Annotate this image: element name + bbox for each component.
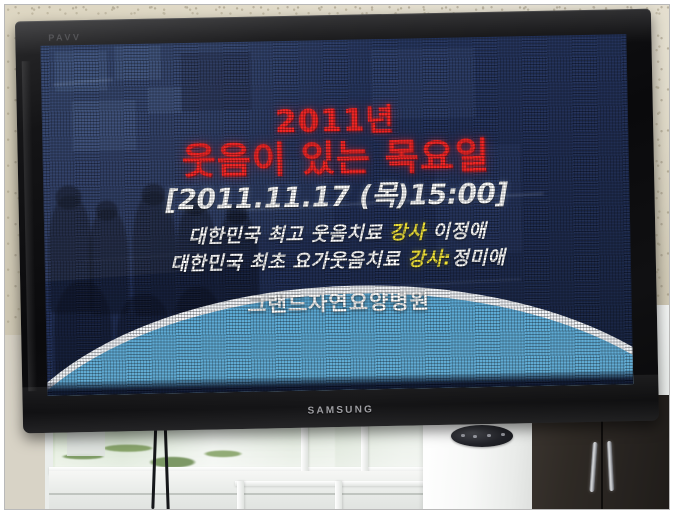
sill-panel-stile [237, 481, 244, 510]
lecturer-1-highlight: 강사 [389, 221, 425, 244]
sill-panel-line [235, 481, 425, 486]
lecturer-2-highlight: 강사: [407, 248, 451, 271]
photograph: PAVV SAMSUNG [4, 4, 670, 510]
purifier-indicator-3 [487, 434, 491, 437]
lecturer-1-prefix: 대한민국 최고 웃음치료 [188, 222, 390, 248]
photo-frame: PAVV SAMSUNG [0, 0, 674, 514]
television: PAVV SAMSUNG [15, 9, 659, 434]
purifier-indicator-4 [501, 433, 505, 436]
lecturer-1-name: 이정애 [425, 220, 486, 243]
sill-panel-stile-2 [335, 481, 342, 510]
purifier-indicator-2 [473, 435, 477, 438]
purifier-indicator-1 [461, 434, 465, 437]
lecturer-2-name: 정미애 [451, 247, 505, 270]
tv-brand-pavv: PAVV [48, 32, 81, 43]
tv-screen: 2011년 웃음이 있는 목요일 [2011.11.17 (목)15:00] 대… [40, 34, 633, 396]
slide-swoosh [45, 264, 633, 396]
